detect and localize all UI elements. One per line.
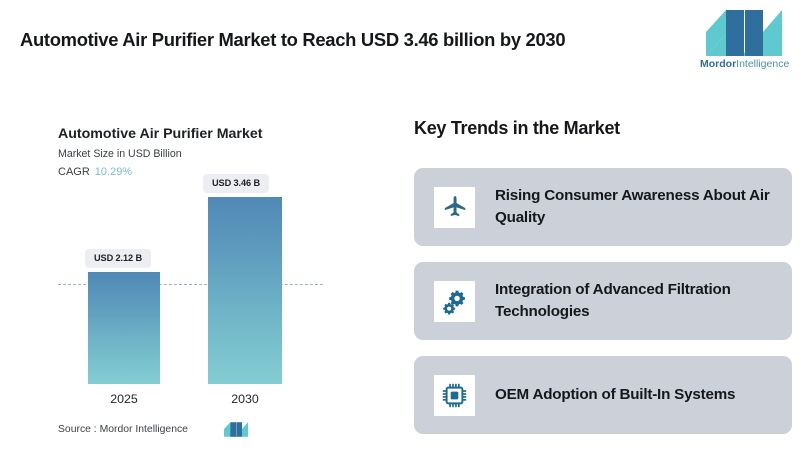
brand-word-bold: Mordor	[700, 58, 736, 70]
trend-card-oem-adoption[interactable]: OEM Adoption of Built-In Systems	[414, 356, 792, 434]
mordor-m-mark-small-icon	[224, 422, 248, 437]
source-text: Source : Mordor Intelligence	[58, 424, 188, 435]
mordor-m-mark-icon	[706, 10, 782, 56]
bar-2030	[208, 197, 282, 384]
microchip-icon	[434, 375, 475, 416]
trend-label: Integration of Advanced Filtration Techn…	[495, 279, 775, 322]
trend-card-advanced-filtration[interactable]: Integration of Advanced Filtration Techn…	[414, 262, 792, 340]
x-axis-label-2025: 2025	[88, 392, 160, 406]
brand-word-light: Intelligence	[736, 58, 789, 70]
bar-2025	[88, 272, 160, 384]
trend-label: Rising Consumer Awareness About Air Qual…	[495, 185, 775, 228]
brand-logo: MordorIntelligence	[700, 10, 788, 78]
bar-value-badge-2025: USD 2.12 B	[85, 249, 151, 268]
airplane-icon	[434, 187, 475, 228]
source-row: Source : Mordor Intelligence	[58, 422, 248, 437]
gears-icon	[434, 281, 475, 322]
bar-chart-plot-area: USD 2.12 B USD 3.46 B 2025 2030	[40, 172, 370, 402]
chart-title: Automotive Air Purifier Market	[58, 126, 262, 142]
bar-value-badge-2030: USD 3.46 B	[203, 174, 269, 193]
trend-label: OEM Adoption of Built-In Systems	[495, 384, 735, 406]
brand-wordmark: MordorIntelligence	[700, 58, 788, 70]
page-header: Automotive Air Purifier Market to Reach …	[0, 0, 800, 92]
page-title: Automotive Air Purifier Market to Reach …	[20, 29, 565, 51]
chart-subtitle: Market Size in USD Billion	[58, 148, 182, 160]
trends-heading: Key Trends in the Market	[414, 118, 620, 139]
x-axis-label-2030: 2030	[208, 392, 282, 406]
trend-card-rising-consumer-awareness[interactable]: Rising Consumer Awareness About Air Qual…	[414, 168, 792, 246]
trends-panel: Key Trends in the Market Rising Consumer…	[410, 112, 792, 442]
chart-panel: Automotive Air Purifier Market Market Si…	[40, 112, 370, 442]
